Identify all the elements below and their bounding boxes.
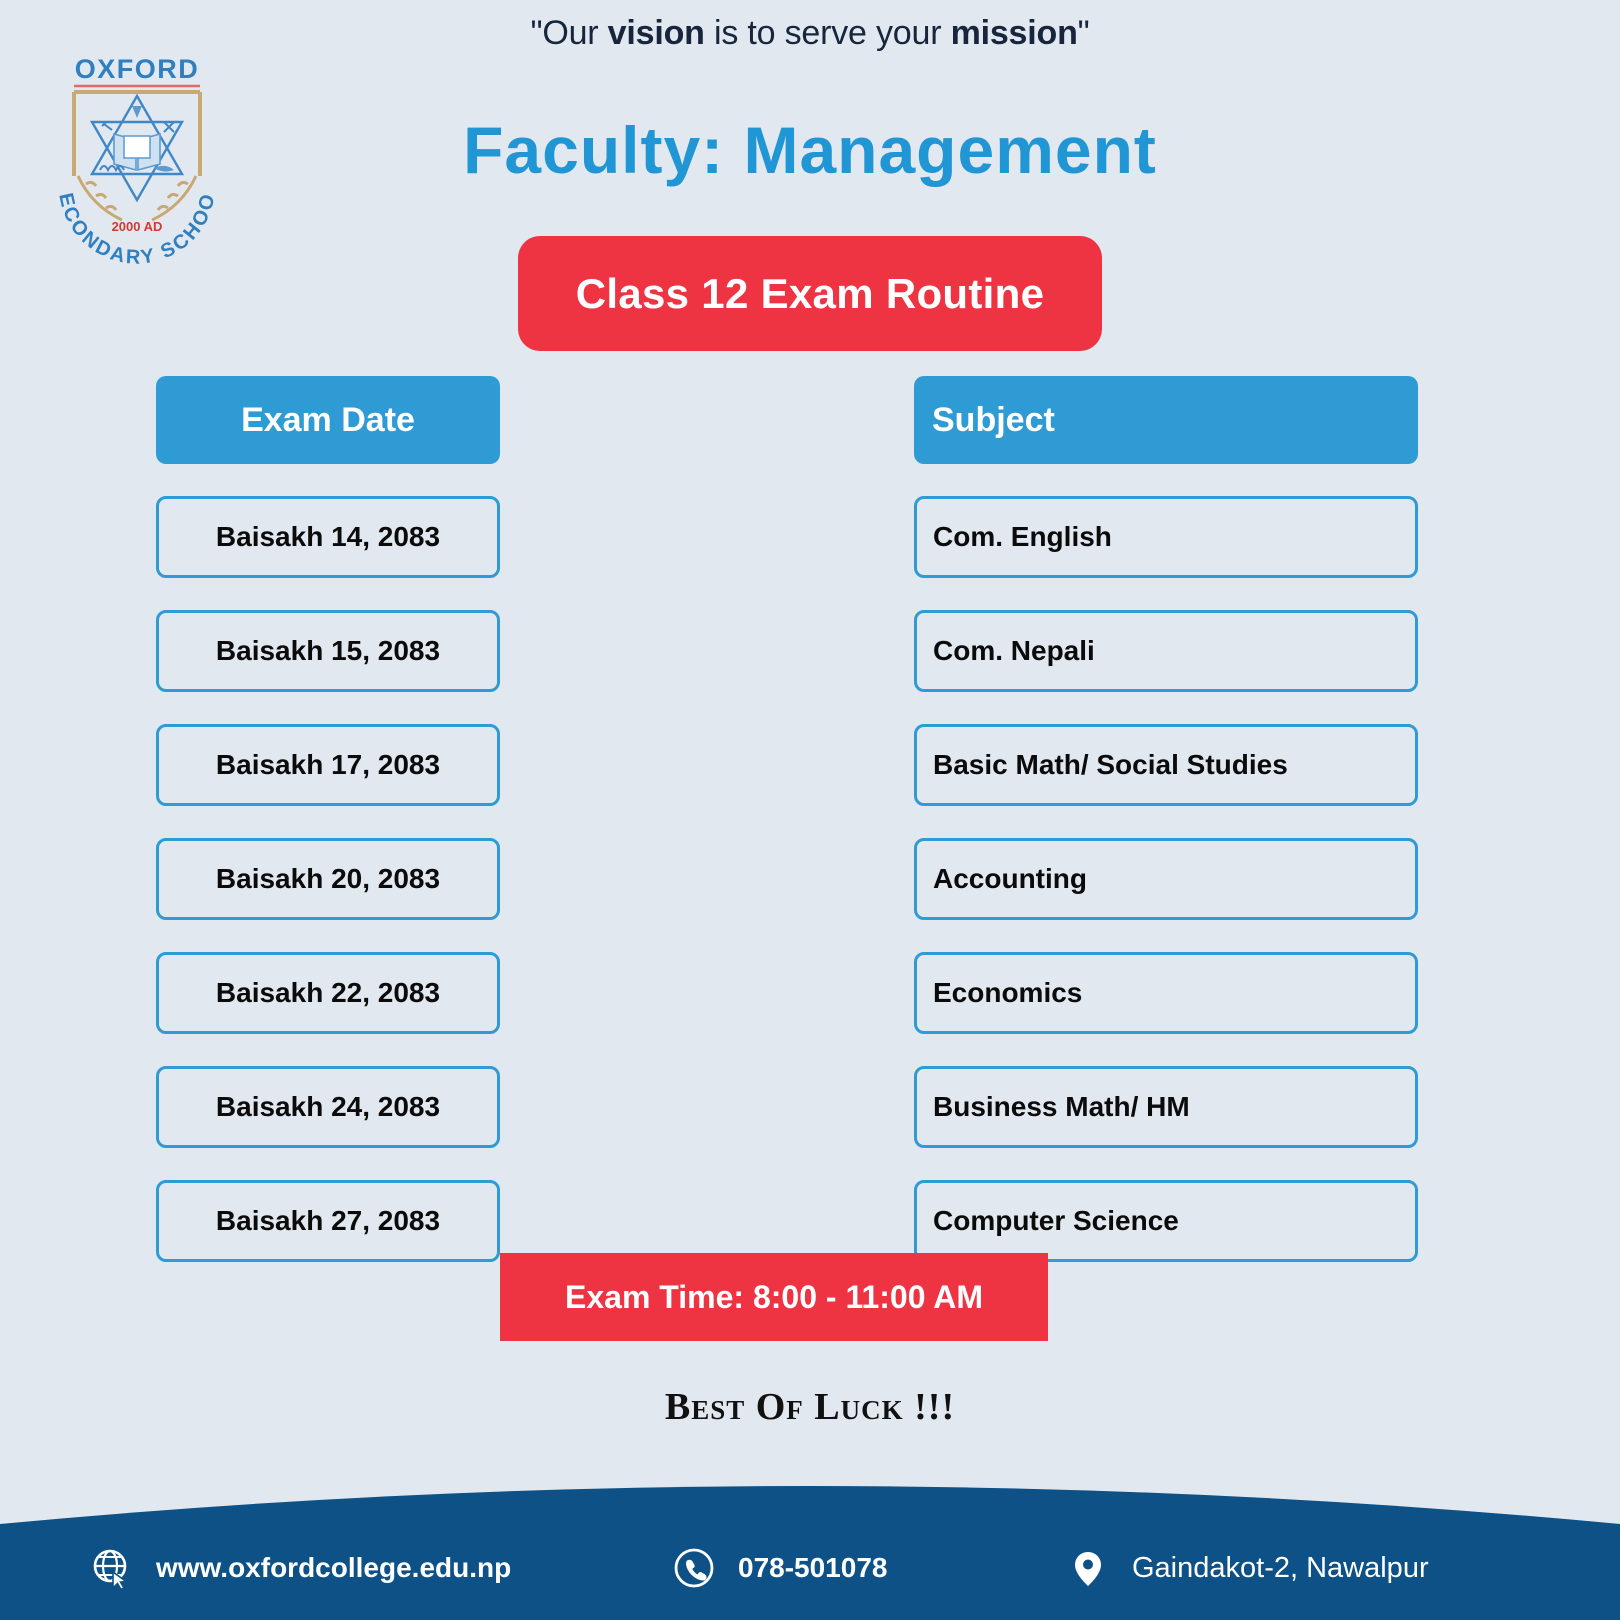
table-row: Baisakh 20, 2083 [156, 838, 500, 920]
phone-circle-icon [672, 1546, 716, 1590]
table-row: Computer Science [914, 1180, 1418, 1262]
table-row: Com. English [914, 496, 1418, 578]
footer-address[interactable]: Gaindakot-2, Nawalpur [1066, 1546, 1429, 1590]
tagline-part2: is to serve your [705, 14, 951, 52]
exam-date-header: Exam Date [156, 376, 500, 464]
tagline-close-quote: " [1078, 14, 1090, 52]
best-of-luck-text: Best Of Luck !!! [0, 1385, 1620, 1429]
footer-website[interactable]: www.oxfordcollege.edu.np [90, 1546, 511, 1590]
tagline-bold-vision: vision [608, 14, 705, 52]
table-row: Baisakh 24, 2083 [156, 1066, 500, 1148]
footer-phone-label: 078-501078 [738, 1552, 887, 1584]
svg-text:OXFORD: OXFORD [75, 54, 200, 84]
tagline: "Our vision is to serve your mission" [0, 14, 1620, 53]
subject-header: Subject [914, 376, 1418, 464]
tagline-bold-mission: mission [951, 14, 1078, 52]
footer-address-label: Gaindakot-2, Nawalpur [1132, 1552, 1429, 1585]
table-row: Baisakh 27, 2083 [156, 1180, 500, 1262]
tagline-open-quote: " [530, 14, 542, 52]
exam-routine-table: Exam Date Baisakh 14, 2083 Baisakh 15, 2… [0, 376, 1620, 1256]
table-row: Business Math/ HM [914, 1066, 1418, 1148]
map-pin-icon [1066, 1546, 1110, 1590]
table-row: Baisakh 17, 2083 [156, 724, 500, 806]
faculty-title: Faculty: Management [0, 112, 1620, 188]
logo-established: 2000 AD [112, 219, 163, 234]
exam-date-column: Exam Date Baisakh 14, 2083 Baisakh 15, 2… [156, 376, 500, 1262]
globe-cursor-icon [90, 1546, 134, 1590]
table-row: Baisakh 22, 2083 [156, 952, 500, 1034]
table-row: Basic Math/ Social Studies [914, 724, 1418, 806]
table-row: Accounting [914, 838, 1418, 920]
footer-bar: www.oxfordcollege.edu.np 078-501078 Gain… [0, 1480, 1620, 1620]
table-row: Economics [914, 952, 1418, 1034]
exam-time-banner: Exam Time: 8:00 - 11:00 AM [500, 1253, 1048, 1341]
class-routine-badge: Class 12 Exam Routine [518, 236, 1102, 351]
table-row: Com. Nepali [914, 610, 1418, 692]
subject-column: Subject Com. English Com. Nepali Basic M… [914, 376, 1418, 1262]
table-row: Baisakh 14, 2083 [156, 496, 500, 578]
footer-phone[interactable]: 078-501078 [672, 1546, 887, 1590]
table-row: Baisakh 15, 2083 [156, 610, 500, 692]
footer-website-label: www.oxfordcollege.edu.np [156, 1552, 511, 1584]
tagline-part1: Our [542, 14, 607, 52]
